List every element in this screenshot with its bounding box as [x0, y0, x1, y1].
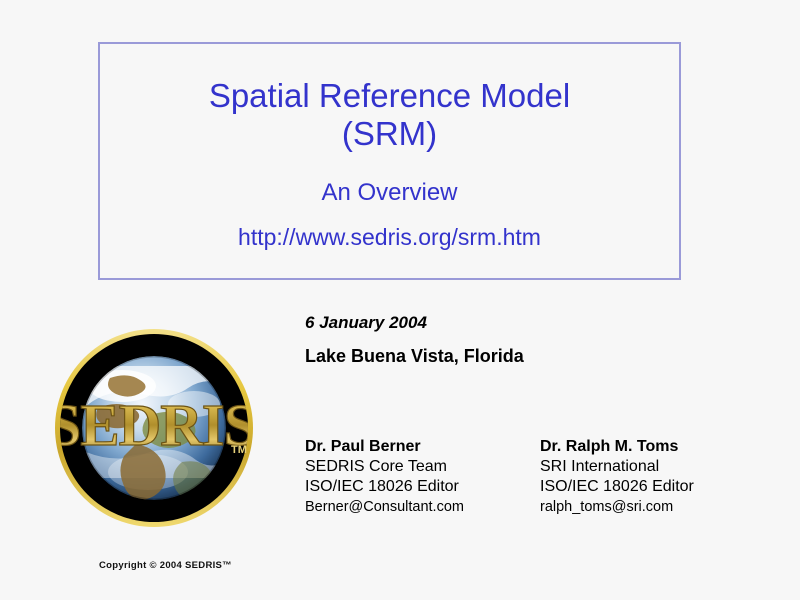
author-name: Dr. Ralph M. Toms — [540, 437, 775, 457]
subtitle: An Overview — [100, 153, 679, 207]
event-location: Lake Buena Vista, Florida — [305, 333, 645, 367]
page-title: Spatial Reference Model (SRM) — [100, 44, 679, 153]
author-role: ISO/IEC 18026 Editor — [540, 477, 775, 497]
sedris-logo: SEDRIS TM — [52, 312, 256, 545]
author-role: ISO/IEC 18026 Editor — [305, 477, 540, 497]
svg-text:SEDRIS: SEDRIS — [52, 392, 256, 458]
slide-canvas: Spatial Reference Model (SRM) An Overvie… — [0, 0, 800, 600]
sedris-wordmark: SEDRIS — [52, 392, 256, 458]
author-organization: SRI International — [540, 457, 775, 477]
author-list: Dr. Paul Berner SEDRIS Core Team ISO/IEC… — [305, 437, 775, 517]
website-url[interactable]: http://www.sedris.org/srm.htm — [100, 207, 679, 251]
author-block-right: Dr. Ralph M. Toms SRI International ISO/… — [540, 437, 775, 517]
author-email[interactable]: Berner@Consultant.com — [305, 497, 540, 517]
author-block-left: Dr. Paul Berner SEDRIS Core Team ISO/IEC… — [305, 437, 540, 517]
author-email[interactable]: ralph_toms@sri.com — [540, 497, 775, 517]
author-name: Dr. Paul Berner — [305, 437, 540, 457]
author-organization: SEDRIS Core Team — [305, 457, 540, 477]
event-date: 6 January 2004 — [305, 312, 645, 333]
event-info: 6 January 2004 Lake Buena Vista, Florida — [305, 312, 645, 367]
copyright-notice: Copyright © 2004 SEDRIS™ — [99, 560, 232, 571]
title-box: Spatial Reference Model (SRM) An Overvie… — [98, 42, 681, 280]
trademark-mark: TM — [231, 444, 247, 456]
page-title-line-2: (SRM) — [100, 115, 679, 153]
page-title-line-1: Spatial Reference Model — [100, 77, 679, 115]
